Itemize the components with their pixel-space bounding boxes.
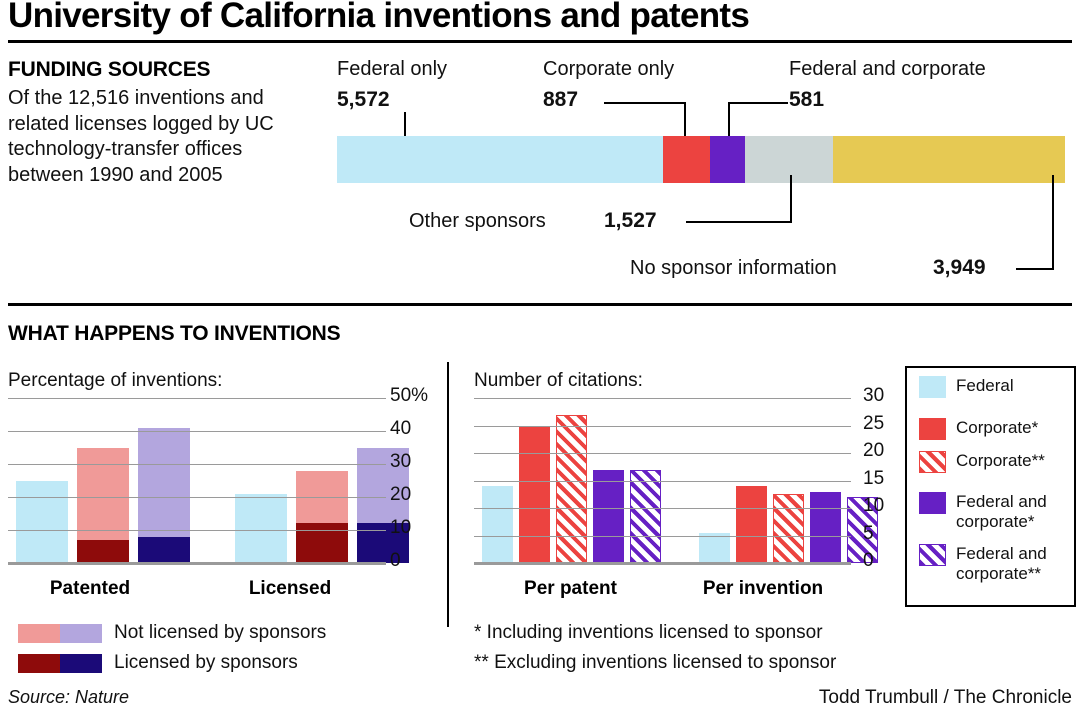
y-axis-tick: 25 (863, 413, 884, 435)
y-axis-tick: 20 (863, 440, 884, 462)
chart-title-citations: Number of citations: (474, 370, 643, 392)
axis-baseline (474, 562, 851, 565)
callout-federal-and-corporate-label: Federal and corporate (789, 58, 986, 81)
funding-sources-heading: FUNDING SOURCES (8, 58, 210, 82)
y-axis-tick: 30 (390, 451, 411, 473)
charts-divider (447, 362, 449, 627)
legend-label: Federal and corporate* (956, 492, 1069, 532)
stack-legend-label-licensed: Licensed by sponsors (114, 652, 298, 674)
leader-federal-only (404, 112, 406, 138)
legend-item-federal: Federal (919, 376, 1069, 398)
callout-federal-only-label: Federal only (337, 58, 447, 81)
leader-fedcorp-vertical (728, 102, 730, 137)
leader-corporate-only-vertical (684, 102, 686, 137)
bar-patented-federal-and-corporate-licensed (138, 537, 190, 563)
chart-title-percentage: Percentage of inventions: (8, 370, 222, 392)
bar-per-patent-corporatestarstar (556, 415, 587, 564)
gridline (474, 536, 851, 537)
bar-per-patent-federal-and-corporatestar (593, 470, 624, 564)
bar-licensed-federal-not-licensed (235, 494, 287, 563)
y-axis-tick: 20 (390, 484, 411, 506)
source-credit: Source: Nature (8, 687, 129, 708)
leader-fedcorp-horizontal (728, 102, 788, 104)
bar-per-patent-federal-and-corporatestarstar (630, 470, 661, 564)
callout-other-sponsors-value: 1,527 (604, 209, 657, 233)
y-axis-tick: 0 (863, 550, 874, 572)
y-axis-tick: 40 (390, 418, 411, 440)
gridline (474, 398, 851, 399)
legend-swatch (919, 376, 946, 398)
footnote-single-asterisk: * Including inventions licensed to spons… (474, 622, 823, 644)
legend-item-corporatestarstar: Corporate** (919, 451, 1069, 473)
funding-sources-description: Of the 12,516 inventions and related lic… (8, 86, 290, 188)
legend-swatch (919, 418, 946, 440)
bar-per-patent-federal (482, 486, 513, 563)
callout-corporate-only-value: 887 (543, 88, 578, 112)
section-divider (8, 303, 1072, 306)
percentage-chart-plot (8, 398, 386, 563)
bar-segment-federal-and-corporate (710, 136, 745, 183)
gridline (474, 481, 851, 482)
swatch-licensed-fedcorp (60, 654, 102, 673)
group-label-licensed: Licensed (205, 578, 375, 600)
page-title: University of California inventions and … (8, 0, 1072, 36)
bar-patented-corporate-licensed (77, 540, 129, 563)
bar-per-invention-federal-and-corporatestar (810, 492, 841, 564)
y-axis-tick: 30 (863, 385, 884, 407)
group-label-per-patent: Per patent (483, 578, 658, 600)
leader-no-sponsor-horizontal (1016, 268, 1054, 270)
callout-other-sponsors-label: Other sponsors (409, 210, 546, 233)
legend-label: Federal (956, 376, 1014, 396)
leader-other-sponsors-horizontal (686, 221, 792, 223)
chart-legend: FederalCorporate*Corporate**Federal and … (905, 366, 1076, 607)
bar-per-invention-federal (699, 533, 730, 563)
bar-segment-other-sponsors (745, 136, 833, 183)
legend-swatch (919, 544, 946, 566)
bar-per-patent-corporatestar (519, 426, 550, 564)
gridline (474, 453, 851, 454)
leader-other-sponsors-vertical (790, 175, 792, 223)
swatch-not-licensed-corporate (18, 624, 60, 643)
y-axis-tick: 50% (390, 385, 428, 407)
y-axis-tick: 10 (390, 517, 411, 539)
legend-item-corporatestar: Corporate* (919, 418, 1069, 440)
legend-label: Federal and corporate** (956, 544, 1069, 584)
y-axis-tick: 10 (863, 495, 884, 517)
callout-federal-only-value: 5,572 (337, 88, 390, 112)
swatch-not-licensed-fedcorp (60, 624, 102, 643)
y-axis-tick: 5 (863, 523, 874, 545)
infographic-canvas: University of California inventions and … (0, 0, 1080, 720)
axis-baseline (8, 562, 386, 565)
bar-patented-federal-not-licensed (16, 481, 68, 564)
funding-sources-stacked-bar (337, 136, 1065, 183)
legend-label: Corporate* (956, 418, 1038, 438)
swatch-licensed-corporate (18, 654, 60, 673)
gridline (8, 464, 386, 465)
legend-swatch (919, 451, 946, 473)
callout-federal-and-corporate-value: 581 (789, 88, 824, 112)
bar-per-invention-corporatestarstar (773, 494, 804, 563)
stack-legend-item-not-licensed: Not licensed by sponsors (18, 622, 326, 644)
callout-corporate-only-label: Corporate only (543, 58, 674, 81)
group-label-per-invention: Per invention (670, 578, 856, 600)
leader-no-sponsor-vertical (1052, 175, 1054, 270)
gridline (8, 398, 386, 399)
gridline (474, 426, 851, 427)
bar-segment-federal-only (337, 136, 663, 183)
author-credit: Todd Trumbull / The Chronicle (819, 687, 1072, 709)
legend-item-federal-and-corporatestarstar: Federal and corporate** (919, 544, 1069, 584)
inventions-heading: WHAT HAPPENS TO INVENTIONS (8, 322, 340, 346)
legend-item-federal-and-corporatestar: Federal and corporate* (919, 492, 1069, 532)
callout-no-sponsor-info-value: 3,949 (933, 256, 986, 280)
y-axis-tick: 0 (390, 550, 401, 572)
gridline (8, 530, 386, 531)
bar-segment-corporate-only (663, 136, 710, 183)
legend-swatch (919, 492, 946, 514)
footnote-double-asterisk: ** Excluding inventions licensed to spon… (474, 652, 836, 674)
gridline (8, 431, 386, 432)
bar-per-invention-corporatestar (736, 486, 767, 563)
stack-legend-item-licensed: Licensed by sponsors (18, 652, 298, 674)
gridline (8, 497, 386, 498)
y-axis-tick: 15 (863, 468, 884, 490)
group-label-patented: Patented (10, 578, 170, 600)
callout-no-sponsor-info-label: No sponsor information (630, 257, 837, 280)
stack-legend-label-not-licensed: Not licensed by sponsors (114, 622, 326, 644)
gridline (474, 508, 851, 509)
leader-corporate-only-horizontal (604, 102, 686, 104)
legend-label: Corporate** (956, 451, 1045, 471)
title-divider (8, 40, 1072, 43)
bar-segment-no-sponsor-information (833, 136, 1065, 183)
